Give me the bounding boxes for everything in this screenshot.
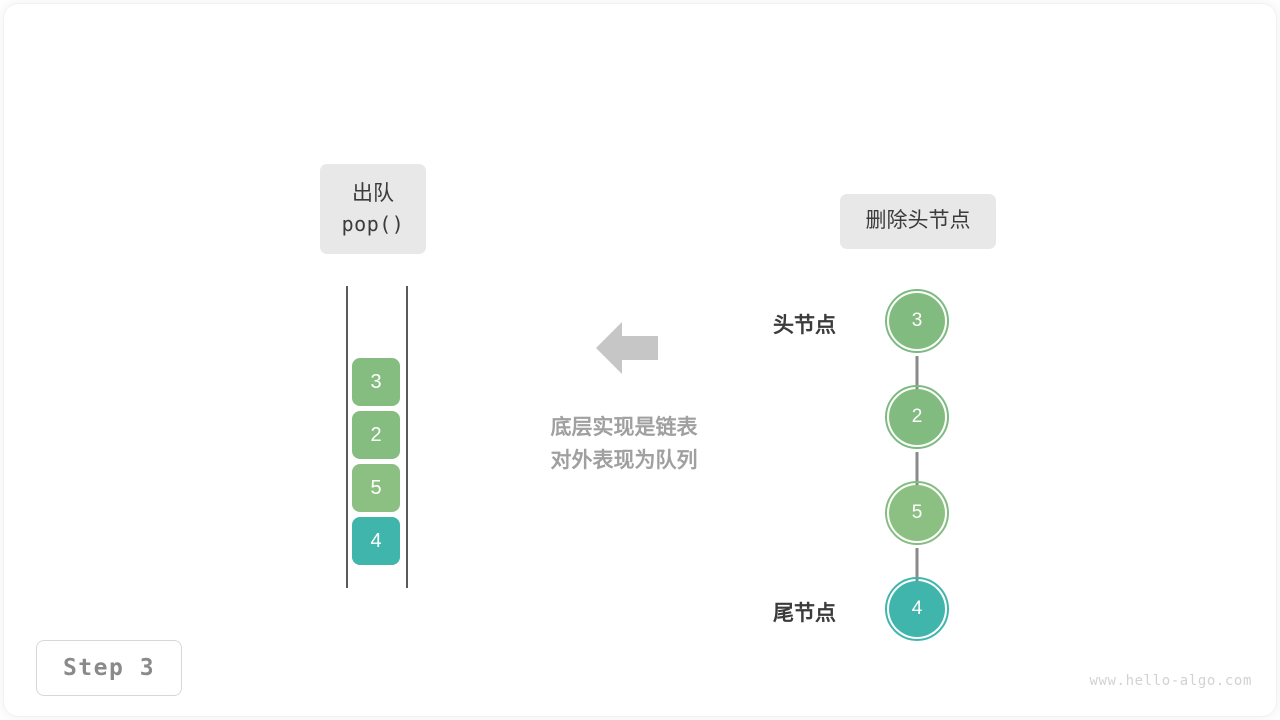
queue-item-value: 3 — [370, 371, 381, 394]
linked-list-node-value: 2 — [912, 406, 923, 428]
action-chip: 删除头节点 — [840, 194, 996, 249]
flow-caption-line1: 底层实现是链表 — [504, 412, 744, 445]
action-chip-label: 删除头节点 — [866, 206, 971, 236]
linked-list-node: 4 — [889, 581, 945, 637]
linked-list-node-value: 3 — [912, 310, 923, 332]
flow-caption: 底层实现是链表 对外表现为队列 — [504, 412, 744, 477]
flow-caption-line2: 对外表现为队列 — [504, 445, 744, 478]
queue-rail-left — [346, 286, 348, 588]
linked-list-node-value: 5 — [912, 502, 923, 524]
operation-chip-title: 出队 — [352, 179, 394, 209]
linked-list-node: 3 — [889, 293, 945, 349]
queue-item-value: 4 — [370, 530, 381, 553]
linked-list-node: 5 — [889, 485, 945, 541]
queue-item: 2 — [352, 411, 400, 459]
linked-list-node: 2 — [889, 389, 945, 445]
queue-rail-right — [406, 286, 408, 588]
linked-list-node-value: 4 — [912, 598, 923, 620]
step-badge: Step 3 — [36, 640, 182, 696]
queue-item-value: 2 — [370, 424, 381, 447]
tail-node-label: 尾节点 — [726, 597, 836, 627]
queue-item: 4 — [352, 517, 400, 565]
queue-item: 5 — [352, 464, 400, 512]
watermark: www.hello-algo.com — [1089, 673, 1252, 689]
arrow-left-icon — [596, 318, 658, 378]
queue-item-value: 5 — [370, 477, 381, 500]
operation-chip: 出队 pop() — [320, 164, 426, 254]
head-node-label: 头节点 — [726, 309, 836, 339]
queue-item: 3 — [352, 358, 400, 406]
figure-canvas: 出队 pop() 删除头节点 3254 底层实现是链表 对外表现为队列 325 — [0, 0, 1280, 720]
linked-list: 3254 头节点 尾节点 — [770, 280, 1000, 650]
operation-chip-code: pop() — [342, 210, 405, 239]
